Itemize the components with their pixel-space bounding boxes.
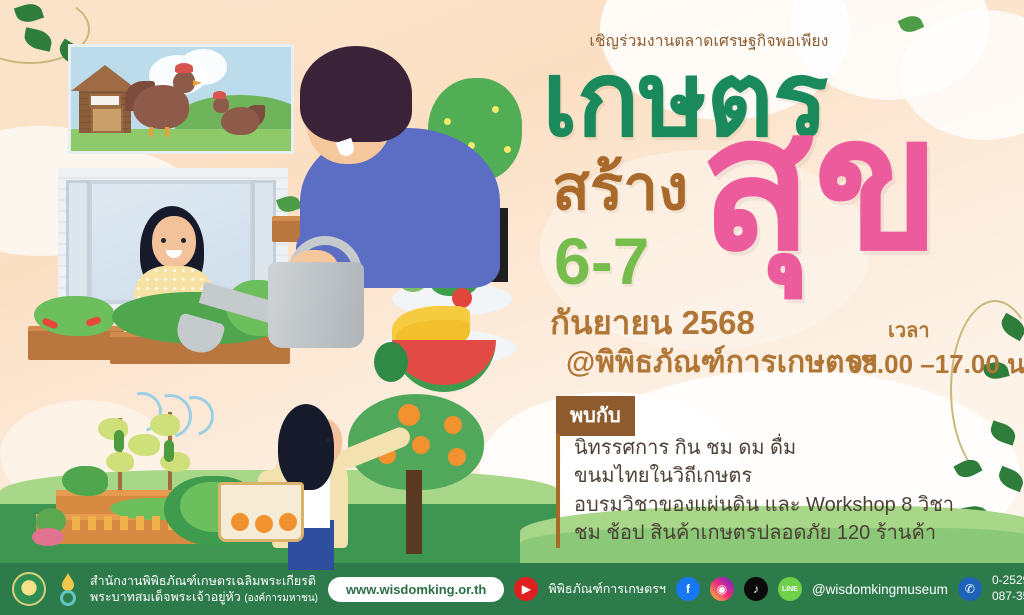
event-month-year: กันยายน 2568	[550, 306, 755, 339]
vine-plant-leaf	[106, 452, 134, 472]
tree-orange	[444, 416, 462, 434]
tree-orange	[398, 404, 420, 426]
footer-bar: สำนักงานพิพิธภัณฑ์เกษตรเฉลิมพระเกียรติ พ…	[0, 563, 1024, 615]
bed-shrub	[62, 466, 108, 496]
phone-icon: ✆	[958, 577, 982, 601]
woman1-eye	[161, 238, 166, 243]
line-icon[interactable]: LINE	[778, 577, 802, 601]
youtube-icon[interactable]: ▶	[514, 577, 538, 601]
window-shutter-left	[66, 180, 90, 304]
cucumber-icon	[164, 440, 174, 462]
facebook-icon[interactable]: f	[676, 577, 700, 601]
basket-orange	[255, 515, 273, 533]
poster-canvas: เชิญร่วมงานตลาดเศรษฐกิจพอเพียง เกษตร สร้…	[0, 0, 1024, 615]
hen-comb	[213, 91, 226, 99]
barn-sign	[89, 94, 121, 107]
social-handle: @wisdomkingmuseum	[812, 582, 948, 597]
man-hair	[300, 46, 412, 142]
tiktok-icon[interactable]: ♪	[744, 577, 768, 601]
phone-number-1: 0-2529-2212-13	[992, 573, 1024, 589]
activity-list: นิทรรศการ กิน ชม ดม ดื่ม ขนมไทยในวิถีเกษ…	[556, 434, 986, 548]
time-value: 08.00 –17.00 น.	[848, 344, 1024, 385]
woman2-eye	[326, 438, 331, 443]
hen-head	[173, 71, 195, 93]
list-item: ขนมไทยในวิถีเกษตร	[574, 462, 986, 490]
watering-can-body	[268, 262, 364, 348]
cucumber-icon	[114, 430, 124, 452]
woman1-eye	[181, 238, 186, 243]
headline-line-2: สร้าง	[552, 158, 688, 220]
museum-mark-logo	[56, 572, 80, 606]
time-label: เวลา	[888, 314, 930, 346]
hen-comb	[175, 63, 193, 73]
orange-tree-trunk	[406, 470, 422, 554]
website-link[interactable]: www.wisdomking.or.th	[328, 577, 504, 602]
chili-plant	[34, 296, 114, 336]
vine-plant-leaf	[150, 414, 180, 436]
tree-orange	[412, 436, 430, 454]
headline-line-3: สุข	[700, 92, 941, 278]
tree-orange	[448, 448, 466, 466]
hen-leg	[165, 127, 169, 137]
basket-orange	[231, 513, 249, 531]
organization-name: สำนักงานพิพิธภัณฑ์เกษตรเฉลิมพระเกียรติ พ…	[90, 573, 318, 606]
beet-icon	[32, 528, 64, 546]
org-line-1: สำนักงานพิพิธภัณฑ์เกษตรเฉลิมพระเกียรติ	[90, 573, 318, 589]
phone-number-2: 087-359-7171	[992, 589, 1024, 605]
chicken-farm-picture	[68, 44, 294, 154]
youtube-channel-name: พิพิธภัณฑ์การเกษตรฯ	[548, 579, 666, 599]
title-panel: เชิญร่วมงานตลาดเศรษฐกิจพอเพียง เกษตร สร้…	[520, 0, 1024, 560]
org-suffix: (องค์การมหาชน)	[244, 593, 318, 604]
org-line-2: พระบาทสมเด็จพระเจ้าอยู่หัว	[90, 590, 241, 604]
barn-door	[91, 107, 123, 133]
hen-head	[213, 97, 229, 113]
woman1-face	[152, 216, 196, 268]
hen-leg	[149, 127, 153, 137]
line-icon-label: LINE	[782, 586, 798, 593]
green-veg-icon	[374, 342, 408, 382]
list-item: อบรมวิชาของแผ่นดิน และ Workshop 8 วิชา	[574, 491, 986, 519]
instagram-icon[interactable]: ◉	[710, 577, 734, 601]
tree-fruit-dot	[504, 146, 511, 153]
tomato-icon	[452, 288, 472, 308]
list-item: ชม ช้อป สินค้าเกษตรปลอดภัย 120 ร้านค้า	[574, 519, 986, 547]
fruit-basket	[218, 482, 304, 542]
woman2-hair	[278, 404, 334, 490]
contact-phones: 0-2529-2212-13 087-359-7171	[992, 573, 1024, 604]
vine-plant-leaf	[128, 434, 160, 456]
org-line-2-wrap: พระบาทสมเด็จพระเจ้าอยู่หัว (องค์การมหาชน…	[90, 589, 318, 606]
royal-seal-logo	[12, 572, 46, 606]
event-venue: @พิพิธภัณฑ์การเกษตรฯ	[566, 348, 877, 378]
man-eye	[322, 120, 333, 132]
event-dates: 6-7	[554, 228, 649, 294]
illustration-column	[0, 0, 540, 565]
list-item: นิทรรศการ กิน ชม ดม ดื่ม	[574, 434, 986, 462]
meet-with-badge: พบกับ	[556, 396, 635, 436]
tree-fruit-dot	[492, 106, 499, 113]
basket-orange	[279, 513, 297, 531]
tree-fruit-dot	[444, 118, 451, 125]
